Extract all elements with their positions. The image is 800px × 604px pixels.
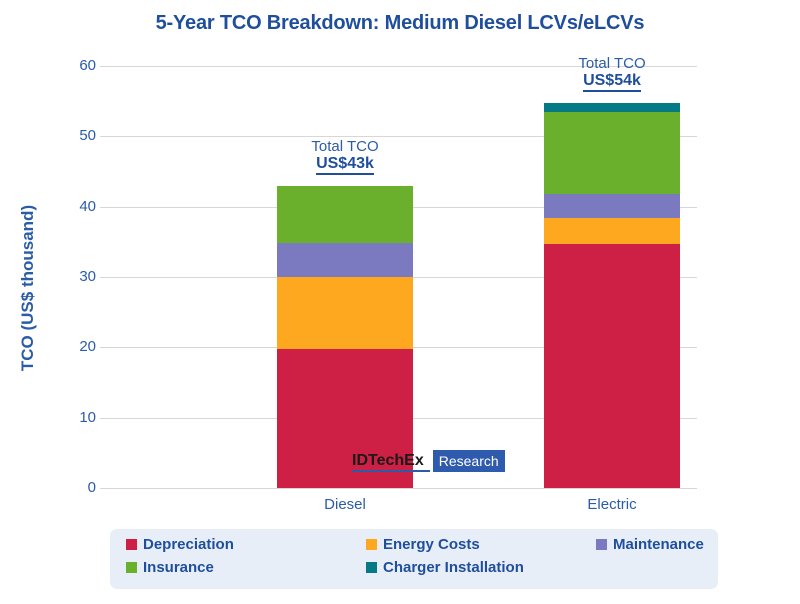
legend-item-depreciation[interactable]: Depreciation [126, 536, 366, 553]
bar-diesel[interactable] [277, 66, 413, 488]
callout-value: US$54k [583, 72, 641, 92]
total-tco-callout-electric: Total TCOUS$54k [522, 55, 702, 93]
watermark: IDTechEx Research [352, 450, 505, 472]
bar-segment[interactable] [277, 277, 413, 349]
legend-item-maintenance[interactable]: Maintenance [596, 536, 718, 553]
bar-segment[interactable] [544, 194, 680, 218]
plot-area [100, 66, 697, 488]
bar-segment[interactable] [544, 244, 680, 488]
watermark-name: IDTechEx [352, 450, 430, 472]
bar-segment[interactable] [544, 103, 680, 112]
x-axis-label-diesel: Diesel [275, 496, 415, 513]
y-axis-tick-label: 10 [36, 409, 96, 426]
bar-electric[interactable] [544, 66, 680, 488]
total-tco-callout-diesel: Total TCOUS$43k [255, 138, 435, 176]
legend-swatch-icon [366, 539, 377, 550]
callout-value: US$43k [316, 155, 374, 175]
legend-item-charger-installation[interactable]: Charger Installation [366, 559, 596, 576]
legend-label: Maintenance [613, 536, 704, 553]
bar-segment[interactable] [544, 112, 680, 194]
bar-segment[interactable] [544, 218, 680, 244]
x-axis-label-electric: Electric [542, 496, 682, 513]
bar-segment[interactable] [277, 186, 413, 244]
bar-segment[interactable] [277, 243, 413, 277]
legend-label: Charger Installation [383, 559, 524, 576]
gridline [100, 488, 697, 489]
y-axis-tick-label: 30 [36, 268, 96, 285]
chart-container: 5-Year TCO Breakdown: Medium Diesel LCVs… [0, 0, 800, 604]
y-axis-tick-label: 40 [36, 198, 96, 215]
legend-item-insurance[interactable]: Insurance [126, 559, 366, 576]
y-axis-tick-label: 50 [36, 127, 96, 144]
legend-swatch-icon [366, 562, 377, 573]
callout-caption: Total TCO [522, 55, 702, 72]
chart-title: 5-Year TCO Breakdown: Medium Diesel LCVs… [0, 12, 800, 35]
legend: DepreciationEnergy CostsMaintenanceInsur… [110, 529, 718, 589]
legend-swatch-icon [126, 562, 137, 573]
y-axis-tick-label: 0 [36, 479, 96, 496]
callout-caption: Total TCO [255, 138, 435, 155]
y-axis-tick-label: 60 [36, 57, 96, 74]
y-axis-tick-label: 20 [36, 338, 96, 355]
legend-swatch-icon [596, 539, 607, 550]
legend-label: Energy Costs [383, 536, 480, 553]
legend-label: Insurance [143, 559, 214, 576]
watermark-badge: Research [433, 450, 505, 472]
legend-item-energy-costs[interactable]: Energy Costs [366, 536, 596, 553]
legend-swatch-icon [126, 539, 137, 550]
legend-label: Depreciation [143, 536, 234, 553]
